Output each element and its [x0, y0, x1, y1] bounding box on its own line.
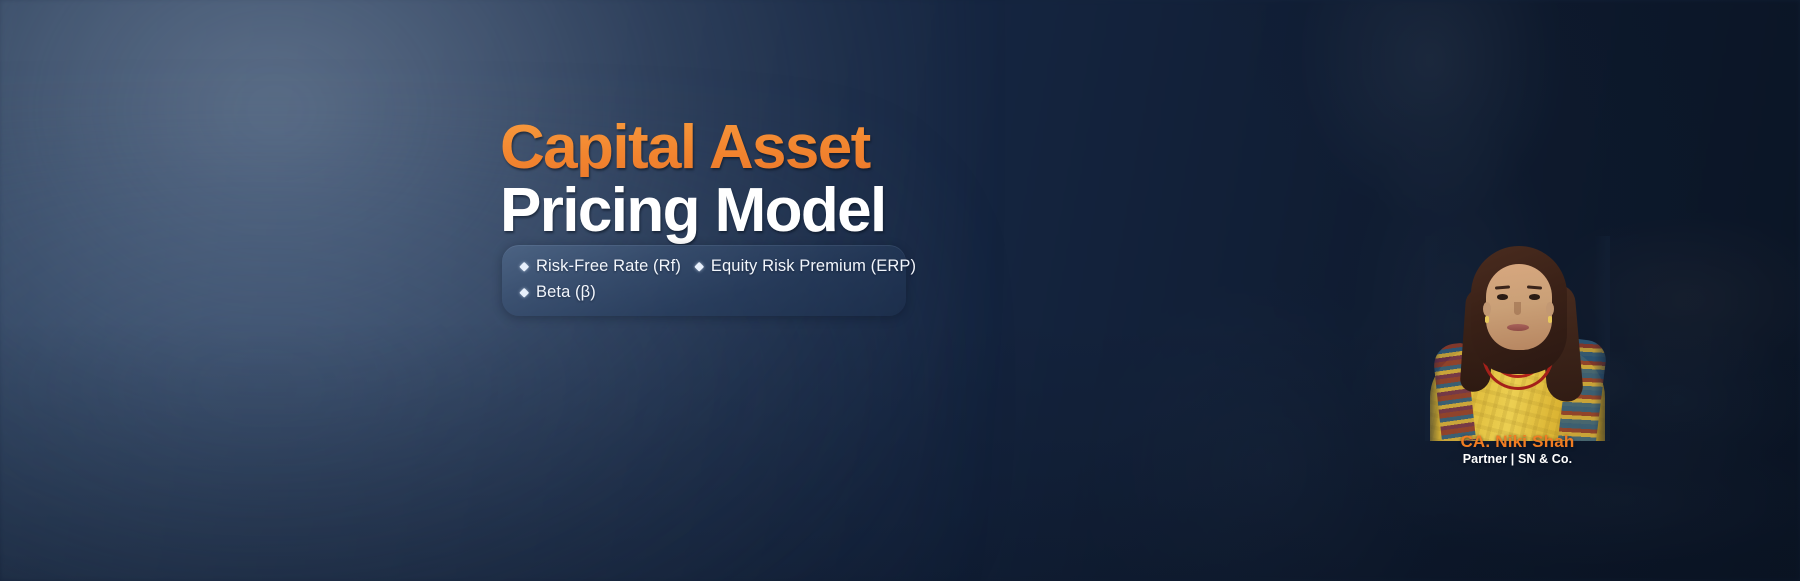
portrait-eye-right	[1529, 294, 1540, 300]
slide-stage: Capital Asset Pricing Model Risk-Free Ra…	[0, 0, 1800, 581]
portrait-ear-right	[1546, 302, 1554, 316]
bullet-label: Risk-Free Rate (Rf)	[536, 257, 681, 276]
diamond-bullet-icon	[519, 288, 529, 298]
bullet-item-risk-free-rate: Risk-Free Rate (Rf)	[520, 257, 681, 276]
portrait-lips	[1507, 324, 1529, 331]
portrait-nose	[1514, 302, 1521, 315]
diamond-bullet-icon	[519, 262, 529, 272]
portrait-eye-left	[1497, 294, 1508, 300]
slide-content: Capital Asset Pricing Model Risk-Free Ra…	[500, 118, 1120, 368]
slide-title-line-2: Pricing Model	[500, 181, 1120, 240]
diamond-bullet-icon	[694, 262, 704, 272]
bullet-item-equity-risk-premium: Equity Risk Premium (ERP)	[695, 257, 916, 276]
portrait-earring-right	[1548, 316, 1552, 323]
portrait-ear-left	[1483, 302, 1491, 316]
bullet-row: Risk-Free Rate (Rf) Equity Risk Premium …	[520, 257, 888, 276]
bullet-row: Beta (β)	[520, 283, 888, 302]
slide-title-line-1: Capital Asset	[500, 118, 1120, 177]
portrait-earring-left	[1485, 316, 1489, 323]
bullet-label: Equity Risk Premium (ERP)	[711, 257, 916, 276]
presenter-role: Partner | SN & Co.	[1425, 452, 1610, 466]
bullet-label: Beta (β)	[536, 283, 596, 302]
presenter-name: CA. Niki Shah	[1425, 432, 1610, 452]
presenter-portrait	[1425, 236, 1610, 441]
bullet-item-beta: Beta (β)	[520, 283, 596, 302]
presenter-block: CA. Niki Shah Partner | SN & Co.	[1425, 236, 1610, 481]
key-inputs-panel: Risk-Free Rate (Rf) Equity Risk Premium …	[502, 245, 906, 316]
